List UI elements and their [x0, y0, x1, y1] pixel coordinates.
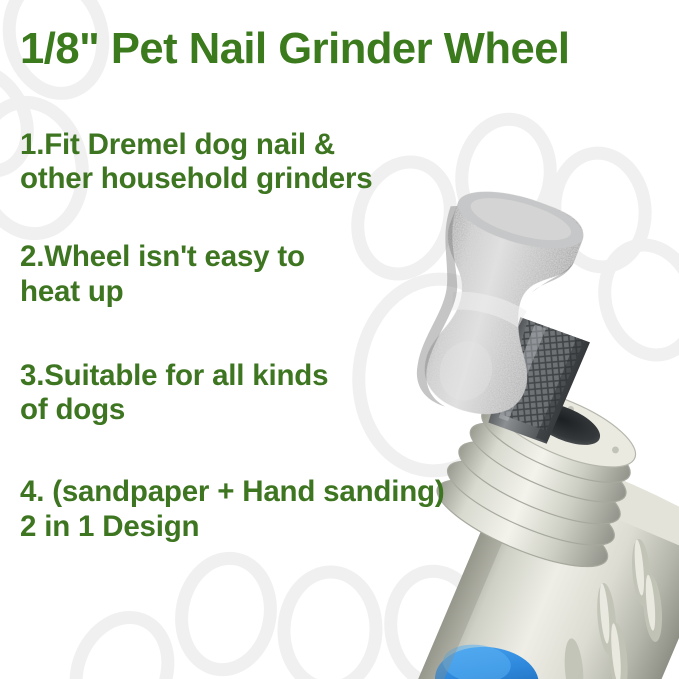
feature-item-4: 4. (sandpaper + Hand sanding) 2 in 1 Des… [20, 475, 620, 543]
feature-item-1: 1.Fit Dremel dog nail & other household … [20, 128, 580, 196]
blue-power-button [432, 643, 542, 679]
feature-list: 1.Fit Dremel dog nail & other household … [20, 128, 580, 544]
feature-item-3: 3.Suitable for all kinds of dogs [20, 359, 580, 427]
feature-item-2: 2.Wheel isn't easy to heat up [20, 240, 580, 308]
page-title: 1/8" Pet Nail Grinder Wheel [20, 26, 668, 72]
product-infographic: 1/8" Pet Nail Grinder Wheel 1.Fit Dremel… [0, 0, 679, 679]
paw-print-bottom-center [60, 551, 488, 679]
textured-grip-ridges [540, 523, 679, 679]
